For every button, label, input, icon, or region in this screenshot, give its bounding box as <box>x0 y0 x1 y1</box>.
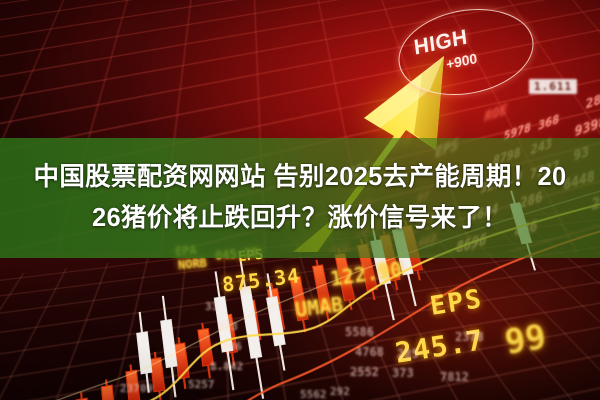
ticker-number: 368 <box>537 112 559 134</box>
headline-band: 中国股票配资网网站 告别2025去产能周期！20 26猪价将止跌回升？涨价信号来… <box>0 138 600 258</box>
ticker-number: 2895.49 <box>585 78 600 113</box>
headline-line-2: 26猪价将止跌回升？涨价信号来了！ <box>92 198 508 239</box>
ticker-number: 9398 <box>574 113 600 140</box>
quote-highlight-box: 1.611 <box>529 79 577 94</box>
headline-line-1: 中国股票配资网网站 告别2025去产能周期！20 <box>34 157 567 198</box>
banner-image: EBIT EPA EPS ROE 5978 368 2895.49 8798 2… <box>0 0 600 400</box>
